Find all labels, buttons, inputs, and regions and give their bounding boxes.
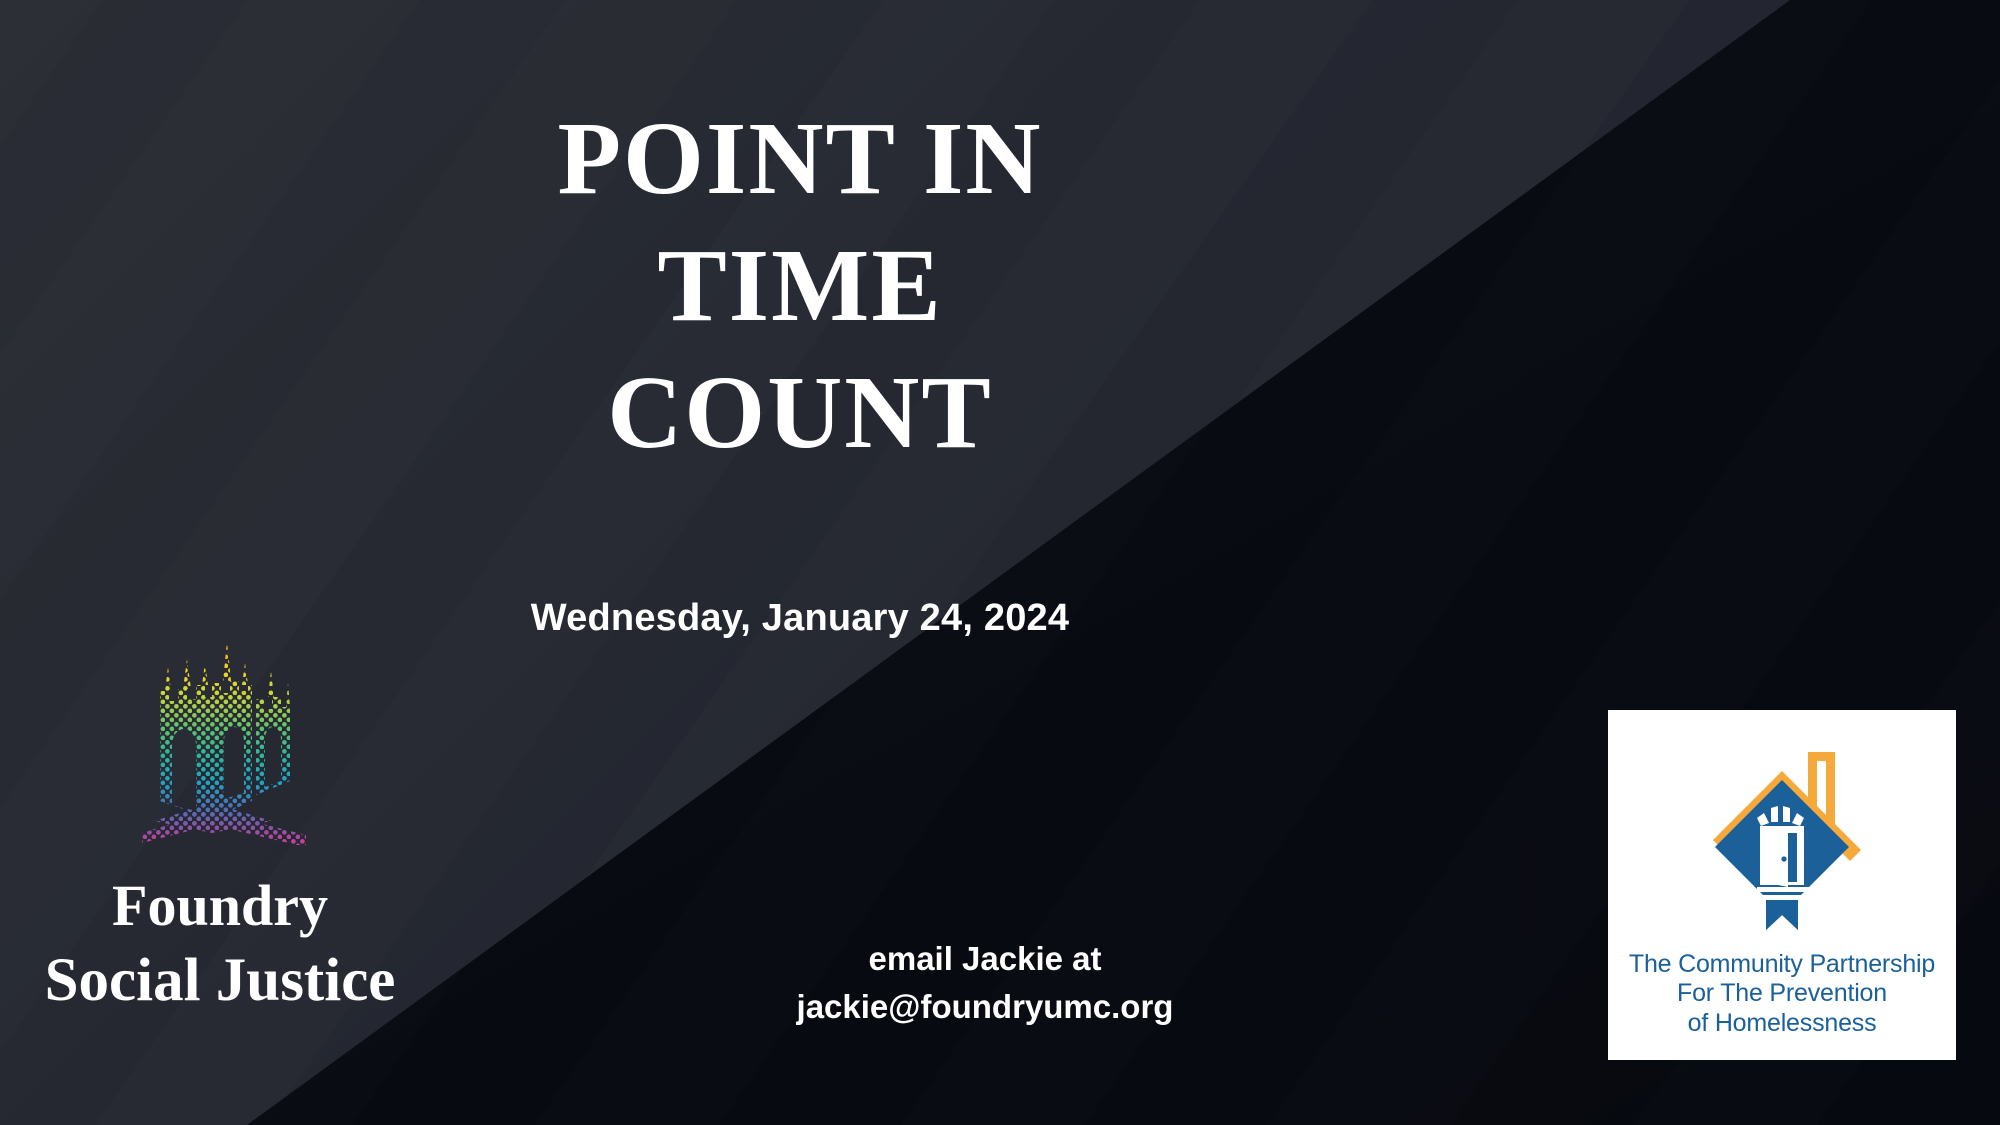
- partner-logo-card: The Community Partnership For The Preven…: [1608, 710, 1956, 1060]
- contact-email[interactable]: jackie@foundryumc.org: [640, 983, 1330, 1031]
- partner-logo-text: The Community Partnership For The Preven…: [1608, 950, 1956, 1038]
- title-line-1: POINT IN: [390, 96, 1210, 223]
- foundry-wordmark-line-2: Social Justice: [10, 943, 430, 1019]
- foundry-wordmark: Foundry Social Justice: [10, 870, 430, 1019]
- contact-prompt: email Jackie at: [640, 935, 1330, 983]
- partner-logo-line-3: of Homelessness: [1608, 1009, 1956, 1038]
- contact-block: email Jackie at jackie@foundryumc.org: [640, 935, 1330, 1031]
- dc-diamond-house-door-icon: [1657, 722, 1907, 952]
- foundry-wordmark-line-1: Foundry: [10, 870, 430, 943]
- event-date: Wednesday, January 24, 2024: [390, 597, 1210, 640]
- title-line-2: TIME: [390, 223, 1210, 350]
- page-title: POINT IN TIME COUNT: [390, 96, 1210, 477]
- title-line-3: COUNT: [390, 350, 1210, 477]
- halftone-steeple-icon: [120, 605, 330, 845]
- slide-canvas: POINT IN TIME COUNT Wednesday, January 2…: [0, 0, 2000, 1125]
- partner-logo-line-2: For The Prevention: [1608, 979, 1956, 1008]
- partner-logo-line-1: The Community Partnership: [1608, 950, 1956, 979]
